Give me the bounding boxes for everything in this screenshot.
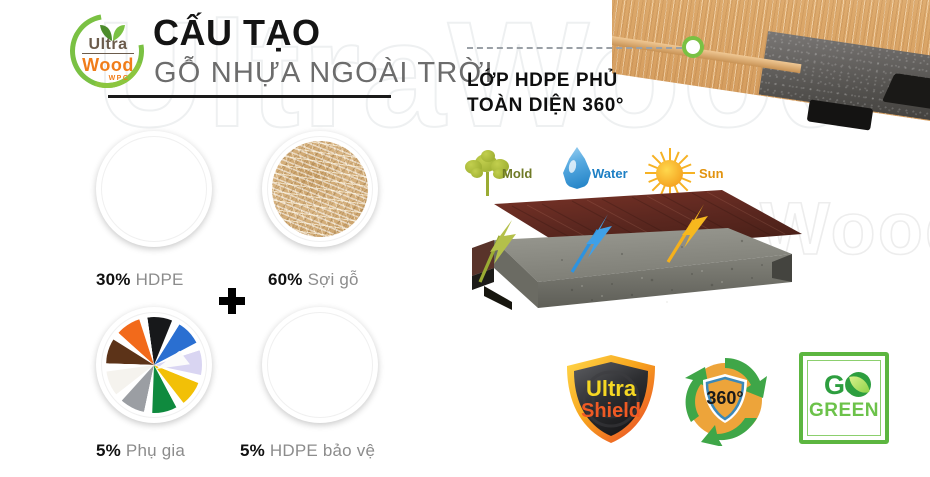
- composition-label-additives: 5% Phụ gia: [96, 441, 185, 461]
- element-label-water: Water: [592, 166, 628, 181]
- callout-dashed-line: [467, 47, 682, 49]
- composition-name: Phụ gia: [126, 441, 185, 460]
- ultrawood-logo: Ultra Wood WPC: [58, 8, 154, 98]
- composition-photo-wood-fiber: [262, 131, 378, 247]
- composition-name: HDPE: [136, 270, 184, 289]
- composition-label-protective-film: 5% HDPE bảo vệ: [240, 441, 375, 461]
- plus-icon: [219, 288, 245, 314]
- composition-name: HDPE bảo vệ: [270, 441, 375, 460]
- composition-name: Sợi gỗ: [308, 270, 359, 289]
- deck-board-cutaway-diagram: [472, 190, 812, 330]
- badge-360-text: 360°: [706, 388, 743, 408]
- composition-percent: 5%: [240, 441, 265, 460]
- right-section-title: LỚP HDPE PHỦ TOÀN DIỆN 360°: [467, 68, 624, 118]
- title-divider: [108, 95, 391, 98]
- page-subtitle: GỖ NHỰA NGOÀI TRỜI: [154, 56, 494, 90]
- composition-photo-additives: [96, 307, 212, 423]
- composition-photo-hdpe: [96, 131, 212, 247]
- composition-photo-protective-film: [262, 307, 378, 423]
- infographic-page: UltraWood Wood Ultra Wood WPC CẤU TẠO GỖ…: [0, 0, 930, 477]
- callout-dot-marker: [682, 36, 704, 58]
- element-label-mold: Mold: [502, 166, 532, 181]
- badge-ultra-text: Ultra: [586, 376, 637, 401]
- badge-recycle-360: 360°: [679, 354, 771, 446]
- composition-percent: 30%: [96, 270, 131, 289]
- color-additive-pellets-photo: [106, 317, 202, 413]
- composition-label-hdpe: 30% HDPE: [96, 270, 184, 290]
- logo-wood-text: Wood: [68, 56, 148, 75]
- composition-percent: 60%: [268, 270, 303, 289]
- wood-fiber-photo: [272, 141, 368, 237]
- badge-shield-text: Shield: [581, 400, 641, 422]
- badge-green-text: GREEN: [799, 400, 889, 422]
- logo-ultra-text: Ultra: [82, 38, 134, 54]
- badge-ultra-shield: Ultra Shield: [563, 353, 659, 445]
- photo-ring: [101, 136, 207, 242]
- wpc-board-corner-photo: [612, 0, 930, 144]
- page-title: CẤU TẠO: [153, 13, 321, 53]
- badge-go-green: GO GREEN: [799, 352, 889, 444]
- badge-go-text: GO: [799, 370, 889, 401]
- logo-wordmark: Ultra Wood WPC: [68, 38, 148, 82]
- composition-percent: 5%: [96, 441, 121, 460]
- composition-label-wood-fiber: 60% Sợi gỗ: [268, 270, 359, 290]
- logo-wpc-text: WPC: [68, 75, 148, 82]
- photo-ring: [267, 312, 373, 418]
- element-label-sun: Sun: [699, 166, 724, 181]
